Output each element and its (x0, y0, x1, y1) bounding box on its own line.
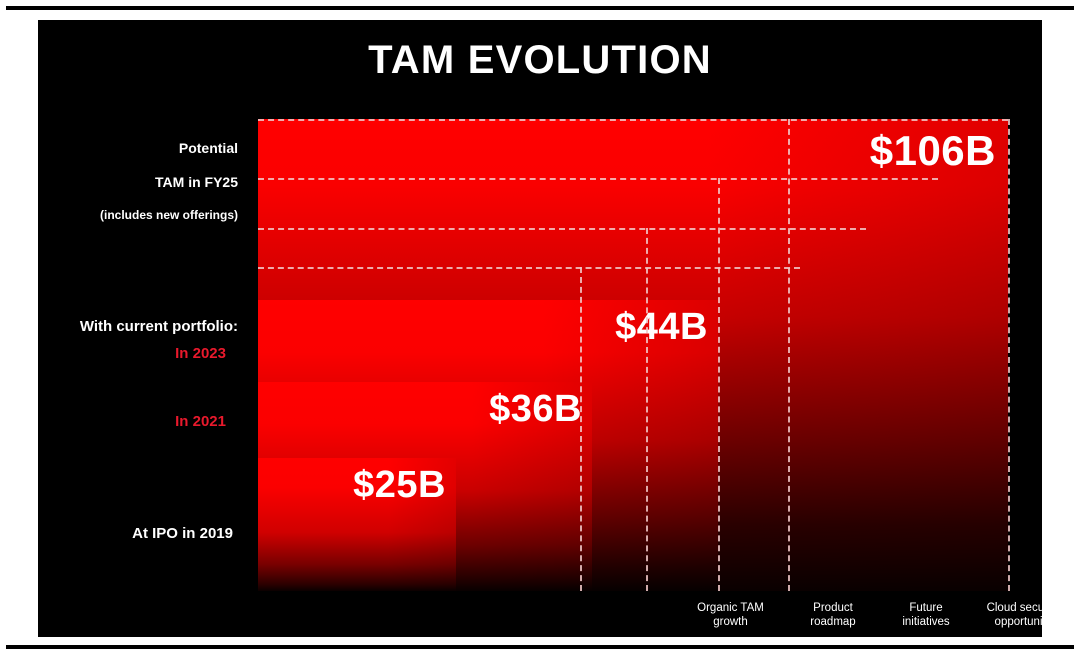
segment-label-future-initiatives: Future initiatives (880, 601, 972, 630)
row-label-potential-tam-fy25: Potential TAM in FY25 (includes new offe… (38, 123, 238, 240)
tam-evolution-chart: $106B $44B $36B $25B (38, 20, 1042, 637)
row-label-in-2023: In 2023 (38, 345, 226, 363)
dash-vline-product-roadmap (646, 228, 648, 591)
dash-step-cloud-security (258, 178, 938, 180)
bar-2021-value: $36B (489, 388, 582, 431)
row-label-potential-sub: (includes new offerings) (38, 208, 238, 223)
dash-top-fy25 (258, 119, 1008, 121)
segment-label-product-roadmap: Product roadmap (788, 601, 878, 630)
bar-ipo-2019-value: $25B (353, 464, 446, 507)
dash-vline-fy25-right-edge (1008, 119, 1010, 591)
segment-label-cloud-security-opportunity: Cloud security opportunity (968, 601, 1042, 630)
slide-canvas: TAM EVOLUTION $106B $44B $36B $25B (38, 20, 1042, 637)
dash-vline-future-initiatives (718, 178, 720, 591)
row-label-potential-line2: TAM in FY25 (38, 174, 238, 191)
bar-fy25-value: $106B (870, 127, 996, 175)
slide-page: TAM EVOLUTION $106B $44B $36B $25B (0, 0, 1080, 657)
row-label-at-ipo-2019: At IPO in 2019 (38, 525, 233, 543)
segment-label-organic-tam-growth: Organic TAM growth (678, 601, 783, 630)
row-label-in-2021: In 2021 (38, 413, 226, 431)
dash-vline-cloud-security-opportunity (788, 119, 790, 591)
dash-step-future-initiatives (258, 228, 866, 230)
dash-vline-organic-tam-growth (580, 267, 582, 591)
bar-2023-value: $44B (615, 306, 708, 349)
row-label-current-portfolio: With current portfolio: (38, 318, 238, 336)
bar-ipo-2019[interactable]: $25B (258, 458, 456, 591)
page-top-rule (6, 6, 1074, 10)
page-bottom-rule (6, 645, 1074, 649)
row-label-potential-line1: Potential (38, 140, 238, 157)
